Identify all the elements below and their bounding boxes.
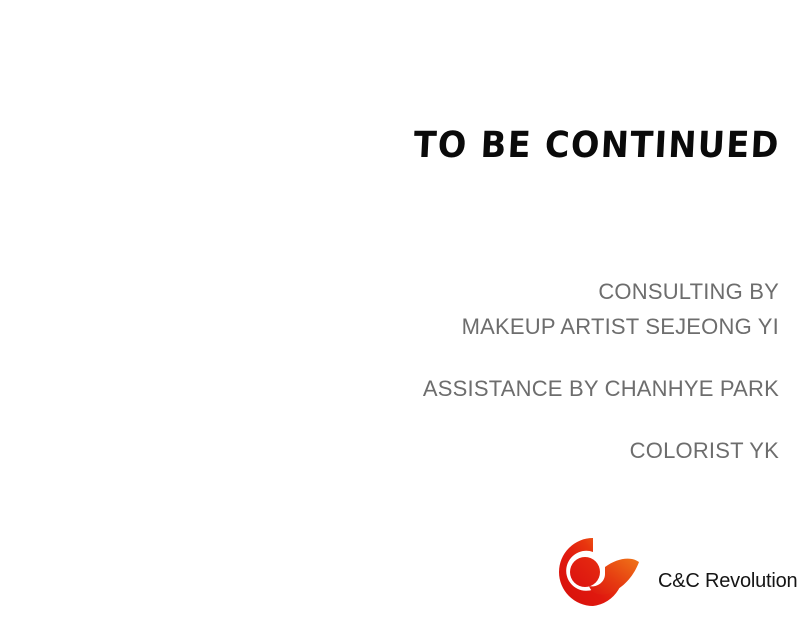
to-be-continued-headline: TO BE CONTINUED [40,128,780,164]
credit-group-consulting: CONSULTING BY MAKEUP ARTIST SEJEONG YI [39,274,779,344]
credit-line: CONSULTING BY [39,274,779,309]
credit-line: ASSISTANCE BY CHANHYE PARK [39,371,779,406]
to-be-continued-text: TO BE CONTINUED [413,128,781,164]
credit-line: COLORIST YK [39,433,779,468]
credits-block: CONSULTING BY MAKEUP ARTIST SEJEONG YI A… [39,274,779,468]
credit-group-colorist: COLORIST YK [39,433,779,468]
credit-line: MAKEUP ARTIST SEJEONG YI [39,309,779,344]
credits-page: TO BE CONTINUED CONSULTING BY MAKEUP ART… [0,0,800,636]
credit-group-assistance: ASSISTANCE BY CHANHYE PARK [39,371,779,406]
brand-logo-lockup: C&C Revolution [547,534,798,614]
brand-wordmark: C&C Revolution [658,571,798,591]
cnc-revolution-comet-c-logo-icon [547,534,642,614]
